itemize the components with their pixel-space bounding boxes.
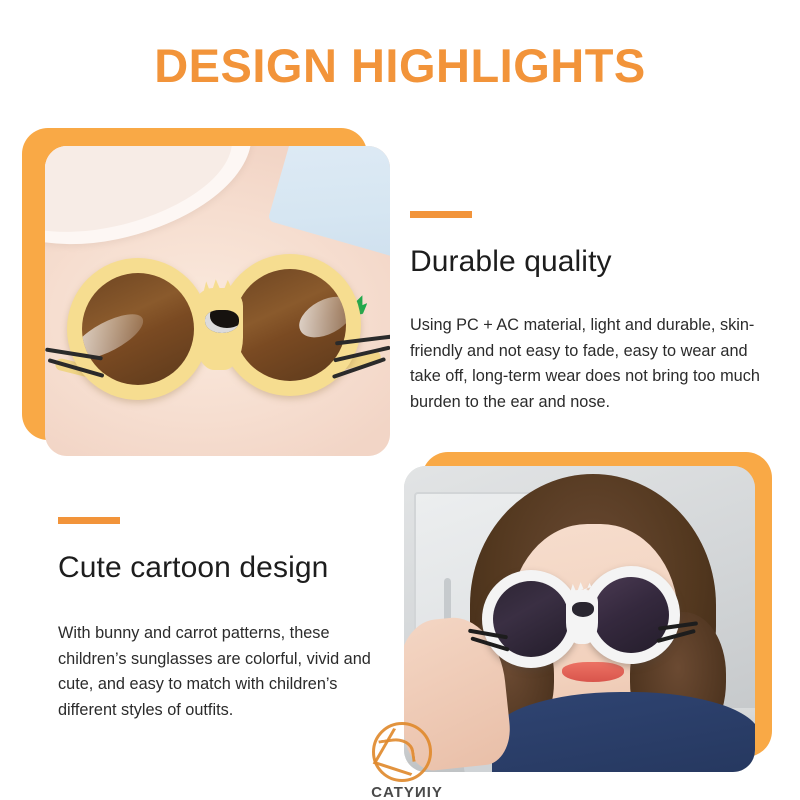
- watermark-text: YINYTAƆ: [358, 784, 454, 800]
- bunny-sunglasses-white: [482, 566, 682, 662]
- bunny-sunglasses-yellow: [67, 254, 367, 404]
- heading-durable-quality: Durable quality: [410, 245, 612, 279]
- model-photo: [404, 466, 755, 772]
- model-lips: [562, 662, 624, 682]
- page-title: DESIGN HIGHLIGHTS: [0, 38, 800, 93]
- body-durable-quality: Using PC + AC material, light and durabl…: [410, 313, 762, 415]
- bunny-nose-icon: [572, 602, 594, 617]
- heading-cute-cartoon-design: Cute cartoon design: [58, 551, 328, 585]
- product-photo: [45, 146, 390, 456]
- bunny-nose-icon: [205, 310, 239, 333]
- model-shirt: [492, 692, 755, 772]
- accent-dash-durable: [410, 211, 472, 218]
- lens-left: [82, 273, 194, 385]
- lens-right: [234, 269, 346, 381]
- accent-dash-cute-cartoon: [58, 517, 120, 524]
- watermark: YINYTAƆ: [358, 722, 454, 798]
- body-cute-cartoon-design: With bunny and carrot patterns, these ch…: [58, 621, 388, 723]
- nose-bridge: [566, 590, 598, 644]
- lens-ring-left: [67, 258, 209, 400]
- product-detail-page: DESIGN HIGHLIGHTS: [0, 0, 800, 800]
